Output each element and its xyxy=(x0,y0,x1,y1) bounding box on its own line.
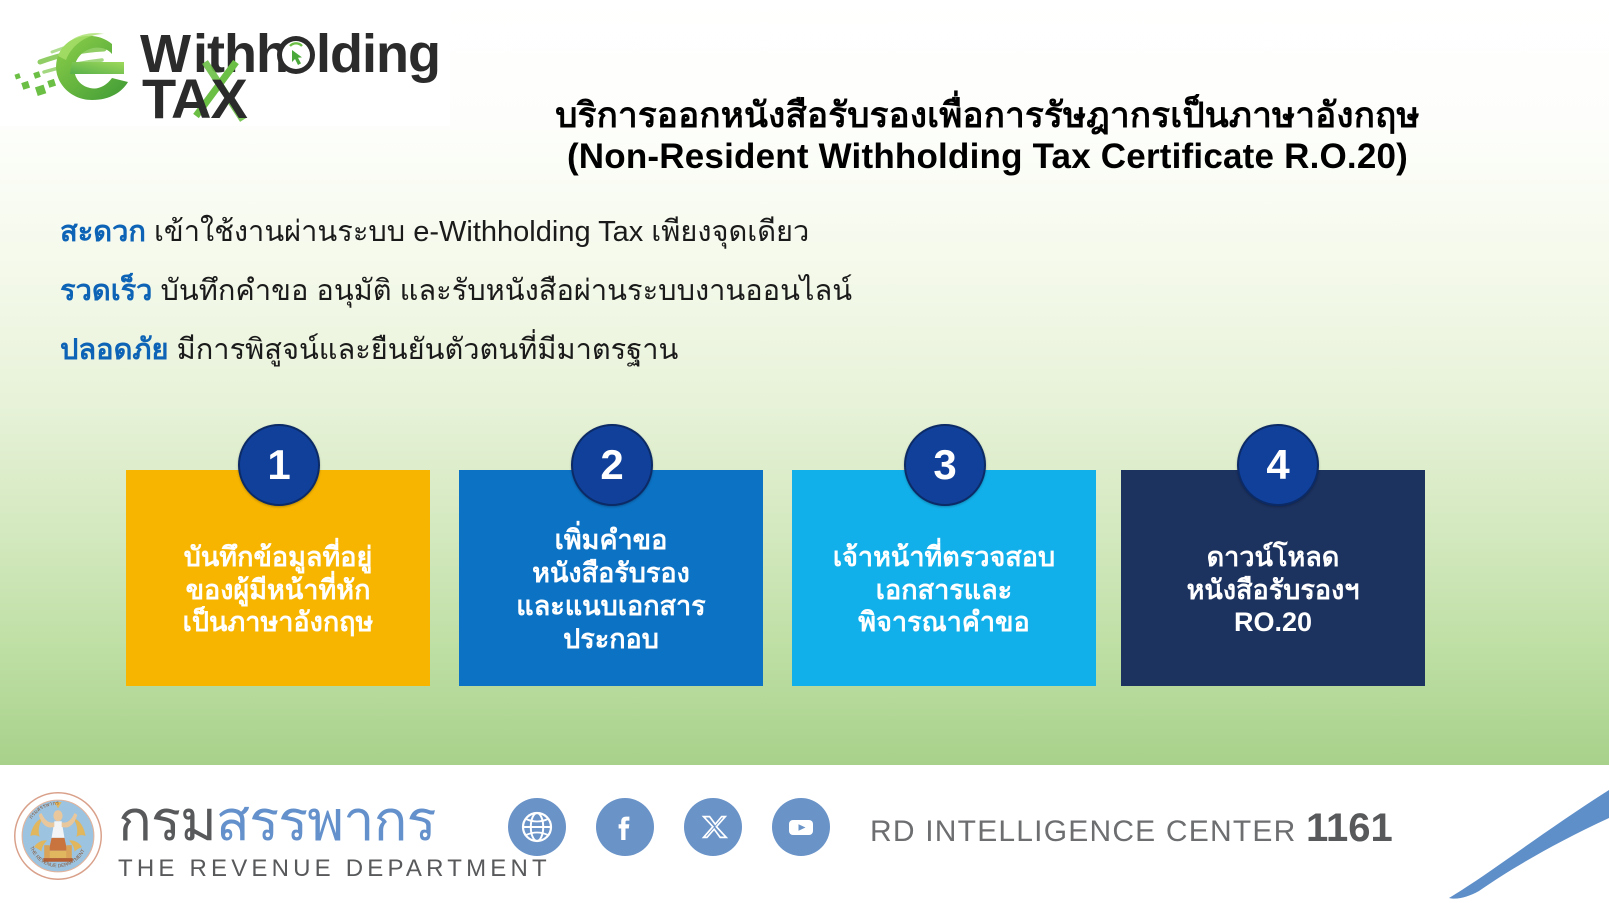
step-number-2: 2 xyxy=(600,444,623,486)
step-number-3: 3 xyxy=(933,444,956,486)
step-1-line-2: ของผู้มีหน้าที่หัก xyxy=(134,574,422,607)
decorative-swoosh xyxy=(1339,770,1609,903)
social-links xyxy=(508,798,830,856)
infographic-poster: W ithh lding TAX บริการออกหนังสือรับรองเ… xyxy=(0,0,1609,903)
step-card-4-text: ดาวน์โหลด หนังสือรับรองฯ RO.20 xyxy=(1129,541,1417,640)
youtube-icon xyxy=(783,809,819,845)
step-badge-2: 2 xyxy=(571,424,653,506)
youtube-button[interactable] xyxy=(772,798,830,856)
footer-bar: กรมสรรพากร THE REVENUE DEPARTMENT กรมสรร… xyxy=(0,765,1609,903)
org-name-thai-prefix: กรม xyxy=(118,789,216,852)
step-badge-3: 3 xyxy=(904,424,986,506)
step-1-line-3: เป็นภาษาอังกฤษ xyxy=(134,606,422,639)
revenue-department-emblem-icon: กรมสรรพากร THE REVENUE DEPARTMENT xyxy=(12,790,104,882)
step-badge-4: 4 xyxy=(1237,424,1319,506)
x-twitter-icon xyxy=(696,810,730,844)
step-3-line-2: เอกสารและ xyxy=(800,574,1088,607)
x-twitter-button[interactable] xyxy=(684,798,742,856)
step-number-4: 4 xyxy=(1266,444,1289,486)
globe-icon xyxy=(519,809,555,845)
step-4-line-1: ดาวน์โหลด xyxy=(1129,541,1417,574)
step-number-1: 1 xyxy=(267,444,290,486)
step-1-line-1: บันทึกข้อมูลที่อยู่ xyxy=(134,541,422,574)
step-4-line-2: หนังสือรับรองฯ xyxy=(1129,574,1417,607)
facebook-button[interactable] xyxy=(596,798,654,856)
step-2-line-4: ประกอบ xyxy=(467,623,755,656)
step-badge-1: 1 xyxy=(238,424,320,506)
revenue-department-name: กรมสรรพากร THE REVENUE DEPARTMENT xyxy=(118,793,551,883)
step-card-3-text: เจ้าหน้าที่ตรวจสอบ เอกสารและ พิจารณาคำขอ xyxy=(800,541,1088,640)
step-2-line-3: และแนบเอกสาร xyxy=(467,590,755,623)
step-3-line-3: พิจารณาคำขอ xyxy=(800,606,1088,639)
website-button[interactable] xyxy=(508,798,566,856)
step-4-line-3: RO.20 xyxy=(1129,606,1417,639)
step-card-2-text: เพิ่มคำขอ หนังสือรับรอง และแนบเอกสาร ประ… xyxy=(467,524,755,656)
step-2-line-2: หนังสือรับรอง xyxy=(467,557,755,590)
step-2-line-1: เพิ่มคำขอ xyxy=(467,524,755,557)
step-card-1-text: บันทึกข้อมูลที่อยู่ ของผู้มีหน้าที่หัก เ… xyxy=(134,541,422,640)
facebook-icon xyxy=(607,809,643,845)
org-name-thai: กรมสรรพากร xyxy=(118,793,551,849)
step-3-line-1: เจ้าหน้าที่ตรวจสอบ xyxy=(800,541,1088,574)
org-name-english: THE REVENUE DEPARTMENT xyxy=(118,855,551,883)
rd-intelligence-center: RD INTELLIGENCE CENTER 1161 xyxy=(870,806,1393,851)
org-name-thai-suffix: สรรพากร xyxy=(216,789,436,852)
contact-label: RD INTELLIGENCE CENTER xyxy=(870,815,1306,848)
